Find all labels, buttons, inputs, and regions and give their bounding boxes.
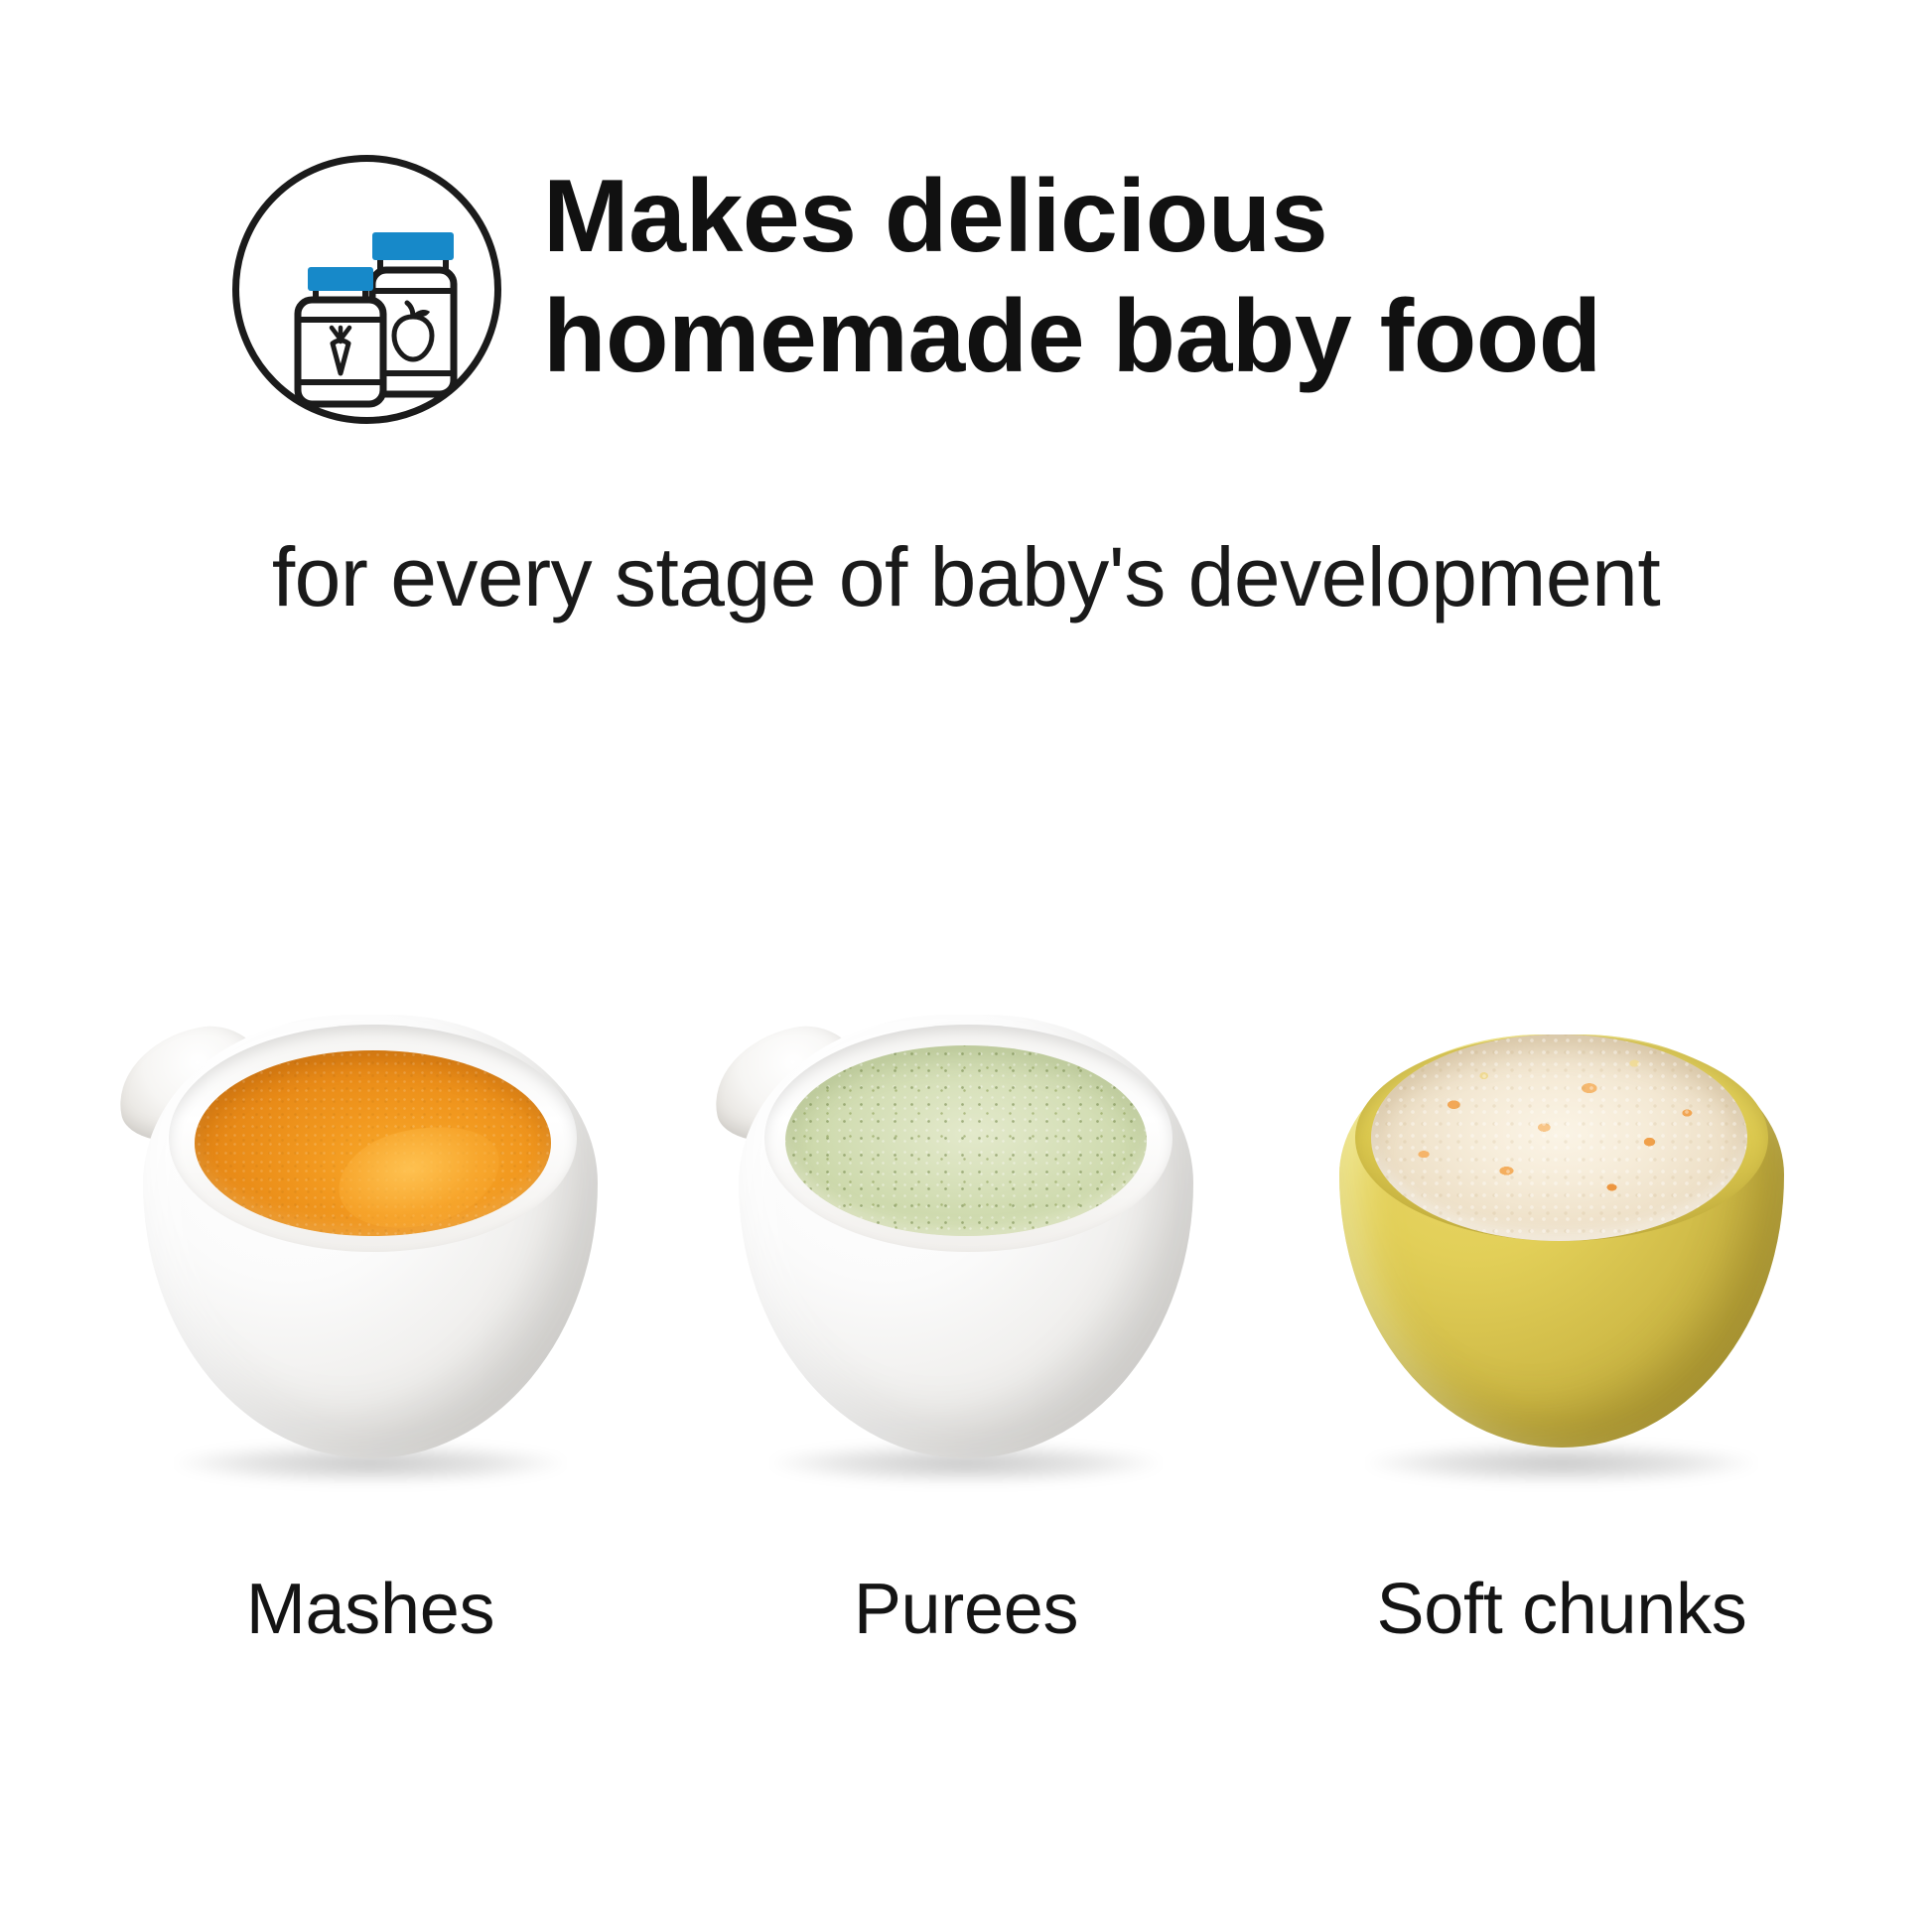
green-vegetable-puree <box>785 1045 1147 1236</box>
small-jar-lid <box>308 267 373 291</box>
large-jar-lid <box>372 232 454 260</box>
food-texture <box>785 1045 1147 1236</box>
subtitle: for every stage of baby's development <box>0 531 1932 622</box>
caption-soft-chunks: Soft chunks <box>1264 1569 1860 1650</box>
bowl-cell-purees <box>668 874 1264 1489</box>
orange-pumpkin-mash <box>195 1050 551 1236</box>
baby-food-jars-icon <box>226 149 507 430</box>
caption-mashes: Mashes <box>72 1569 668 1650</box>
bowl-shadow <box>1365 1444 1757 1483</box>
white-spouted-bowl <box>708 973 1224 1489</box>
bowl-cell-soft-chunks <box>1264 874 1860 1489</box>
captions-row: Mashes Purees Soft chunks <box>0 1569 1932 1650</box>
white-spouted-bowl <box>112 973 628 1489</box>
rice-and-carrot-porridge <box>1371 1035 1748 1241</box>
page-title: Makes delicious homemade baby food <box>507 139 1601 396</box>
caption-purees: Purees <box>668 1569 1264 1650</box>
promo-graphic: Makes delicious homemade baby food for e… <box>0 0 1932 1932</box>
bowl-cell-mashes <box>72 874 668 1489</box>
bowls-row <box>0 854 1932 1489</box>
header-block: Makes delicious homemade baby food <box>0 139 1932 437</box>
food-texture <box>195 1050 551 1236</box>
food-texture <box>1371 1035 1748 1241</box>
yellow-bowl <box>1304 973 1820 1489</box>
